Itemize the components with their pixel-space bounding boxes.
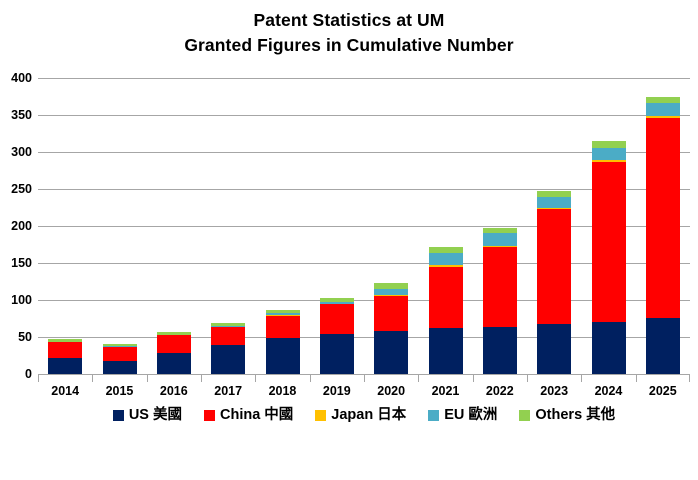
chart-title-line-1: Patent Statistics at UM: [0, 8, 698, 33]
x-axis-label-2024: 2024: [581, 383, 635, 399]
x-axis-label-2016: 2016: [147, 383, 201, 399]
legend-swatch-eu: [428, 410, 439, 421]
legend-label-0: US 美國: [129, 407, 182, 423]
bar-stack-2020: [374, 283, 408, 374]
bar-segment-2019-s1[interactable]: [320, 304, 354, 334]
y-axis-tick-label-50: 50: [0, 331, 32, 343]
legend-swatch-china: [204, 410, 215, 421]
y-axis-tick-label-300: 300: [0, 146, 32, 158]
bar-segment-2021-s1[interactable]: [429, 267, 463, 328]
bar-group-2024[interactable]: [592, 78, 626, 374]
bar-stack-2016: [157, 332, 191, 374]
bar-segment-2024-s1[interactable]: [592, 162, 626, 322]
x-axis-tickmark-11: [636, 375, 637, 382]
bar-segment-2022-s1[interactable]: [483, 247, 517, 326]
bar-group-2014[interactable]: [48, 78, 82, 374]
x-axis-label-2014: 2014: [38, 383, 92, 399]
bar-segment-2015-s0[interactable]: [103, 361, 137, 374]
x-axis: 2014201520162017201820192020202120222023…: [38, 375, 690, 403]
y-axis-tick-label-150: 150: [0, 257, 32, 269]
y-axis-tick-label-100: 100: [0, 294, 32, 306]
bar-segment-2020-s1[interactable]: [374, 296, 408, 332]
bar-stack-2021: [429, 247, 463, 374]
bar-segment-2023-s3[interactable]: [537, 197, 571, 207]
bar-stack-2017: [211, 323, 245, 374]
bar-segment-2018-s0[interactable]: [266, 338, 300, 374]
x-axis-tickmark-8: [473, 375, 474, 382]
bar-group-2017[interactable]: [211, 78, 245, 374]
x-axis-label-2018: 2018: [255, 383, 309, 399]
bar-group-2022[interactable]: [483, 78, 517, 374]
legend-label-3: EU 歐洲: [444, 407, 497, 423]
x-axis-label-2015: 2015: [92, 383, 146, 399]
legend-swatch-others: [519, 410, 530, 421]
bar-segment-2024-s3[interactable]: [592, 148, 626, 161]
x-axis-label-2025: 2025: [636, 383, 690, 399]
x-axis-label-2019: 2019: [310, 383, 364, 399]
bar-segment-2024-s0[interactable]: [592, 322, 626, 374]
x-axis-tickmark-7: [418, 375, 419, 382]
bar-group-2016[interactable]: [157, 78, 191, 374]
bar-stack-2022: [483, 228, 517, 374]
bar-segment-2016-s0[interactable]: [157, 353, 191, 374]
bar-segment-2014-s0[interactable]: [48, 358, 82, 374]
y-axis-tick-label-200: 200: [0, 220, 32, 232]
bar-group-2021[interactable]: [429, 78, 463, 374]
bar-segment-2025-s0[interactable]: [646, 318, 680, 374]
bar-segment-2025-s1[interactable]: [646, 118, 680, 318]
bar-group-2025[interactable]: [646, 78, 680, 374]
x-axis-tickmark-6: [364, 375, 365, 382]
x-axis-tickmark-10: [581, 375, 582, 382]
legend-item-4[interactable]: Others 其他: [519, 407, 615, 423]
bar-segment-2017-s0[interactable]: [211, 345, 245, 374]
bar-stack-2015: [103, 344, 137, 374]
legend-swatch-us: [113, 410, 124, 421]
legend-label-4: Others 其他: [535, 407, 615, 423]
y-axis-tick-label-0: 0: [0, 368, 32, 380]
bar-segment-2022-s3[interactable]: [483, 233, 517, 246]
bar-stack-2014: [48, 339, 82, 374]
legend-item-1[interactable]: China 中國: [204, 407, 293, 423]
bar-stack-2025: [646, 97, 680, 374]
bar-segment-2022-s0[interactable]: [483, 327, 517, 374]
x-axis-tickmark-1: [92, 375, 93, 382]
bar-stack-2023: [537, 191, 571, 374]
x-axis-label-2023: 2023: [527, 383, 581, 399]
y-axis-tick-label-250: 250: [0, 183, 32, 195]
bar-segment-2020-s0[interactable]: [374, 331, 408, 374]
chart-title-line-2: Granted Figures in Cumulative Number: [0, 33, 698, 58]
bar-group-2020[interactable]: [374, 78, 408, 374]
bar-stack-2018: [266, 310, 300, 374]
x-axis-tickmark-4: [255, 375, 256, 382]
bar-segment-2016-s1[interactable]: [157, 335, 191, 353]
chart-title: Patent Statistics at UM Granted Figures …: [0, 8, 698, 58]
bar-segment-2015-s1[interactable]: [103, 347, 137, 361]
bar-segment-2023-s0[interactable]: [537, 324, 571, 374]
legend-item-3[interactable]: EU 歐洲: [428, 407, 497, 423]
legend-item-0[interactable]: US 美國: [113, 407, 182, 423]
bar-segment-2025-s3[interactable]: [646, 103, 680, 116]
bar-group-2023[interactable]: [537, 78, 571, 374]
y-axis-tick-label-350: 350: [0, 109, 32, 121]
x-axis-tickmark-3: [201, 375, 202, 382]
x-axis-label-2020: 2020: [364, 383, 418, 399]
chart-legend: US 美國China 中國Japan 日本EU 歐洲Others 其他: [38, 402, 690, 428]
x-axis-tickmark-9: [527, 375, 528, 382]
bar-segment-2019-s0[interactable]: [320, 334, 354, 374]
bar-segment-2021-s0[interactable]: [429, 328, 463, 374]
x-axis-label-2017: 2017: [201, 383, 255, 399]
bar-group-2018[interactable]: [266, 78, 300, 374]
x-axis-label-2022: 2022: [473, 383, 527, 399]
bar-group-2015[interactable]: [103, 78, 137, 374]
x-axis-tickmark-2: [147, 375, 148, 382]
chart-container: Patent Statistics at UM Granted Figures …: [0, 0, 698, 480]
y-axis-tick-label-400: 400: [0, 72, 32, 84]
x-axis-tickmark-end: [689, 375, 690, 382]
bar-series-group: [38, 78, 690, 374]
bar-segment-2017-s1[interactable]: [211, 327, 245, 346]
bar-group-2019[interactable]: [320, 78, 354, 374]
bar-segment-2021-s3[interactable]: [429, 253, 463, 266]
legend-label-2: Japan 日本: [331, 407, 406, 423]
bar-stack-2024: [592, 141, 626, 374]
legend-label-1: China 中國: [220, 407, 293, 423]
bar-segment-2014-s1[interactable]: [48, 342, 82, 358]
x-axis-tickmark-0: [38, 375, 39, 382]
bar-segment-2023-s1[interactable]: [537, 209, 571, 324]
x-axis-label-2021: 2021: [418, 383, 472, 399]
bar-stack-2019: [320, 298, 354, 374]
x-axis-tickmark-5: [310, 375, 311, 382]
bar-segment-2024-s4[interactable]: [592, 141, 626, 148]
bar-segment-2018-s1[interactable]: [266, 316, 300, 339]
legend-item-2[interactable]: Japan 日本: [315, 407, 406, 423]
legend-swatch-japan: [315, 410, 326, 421]
